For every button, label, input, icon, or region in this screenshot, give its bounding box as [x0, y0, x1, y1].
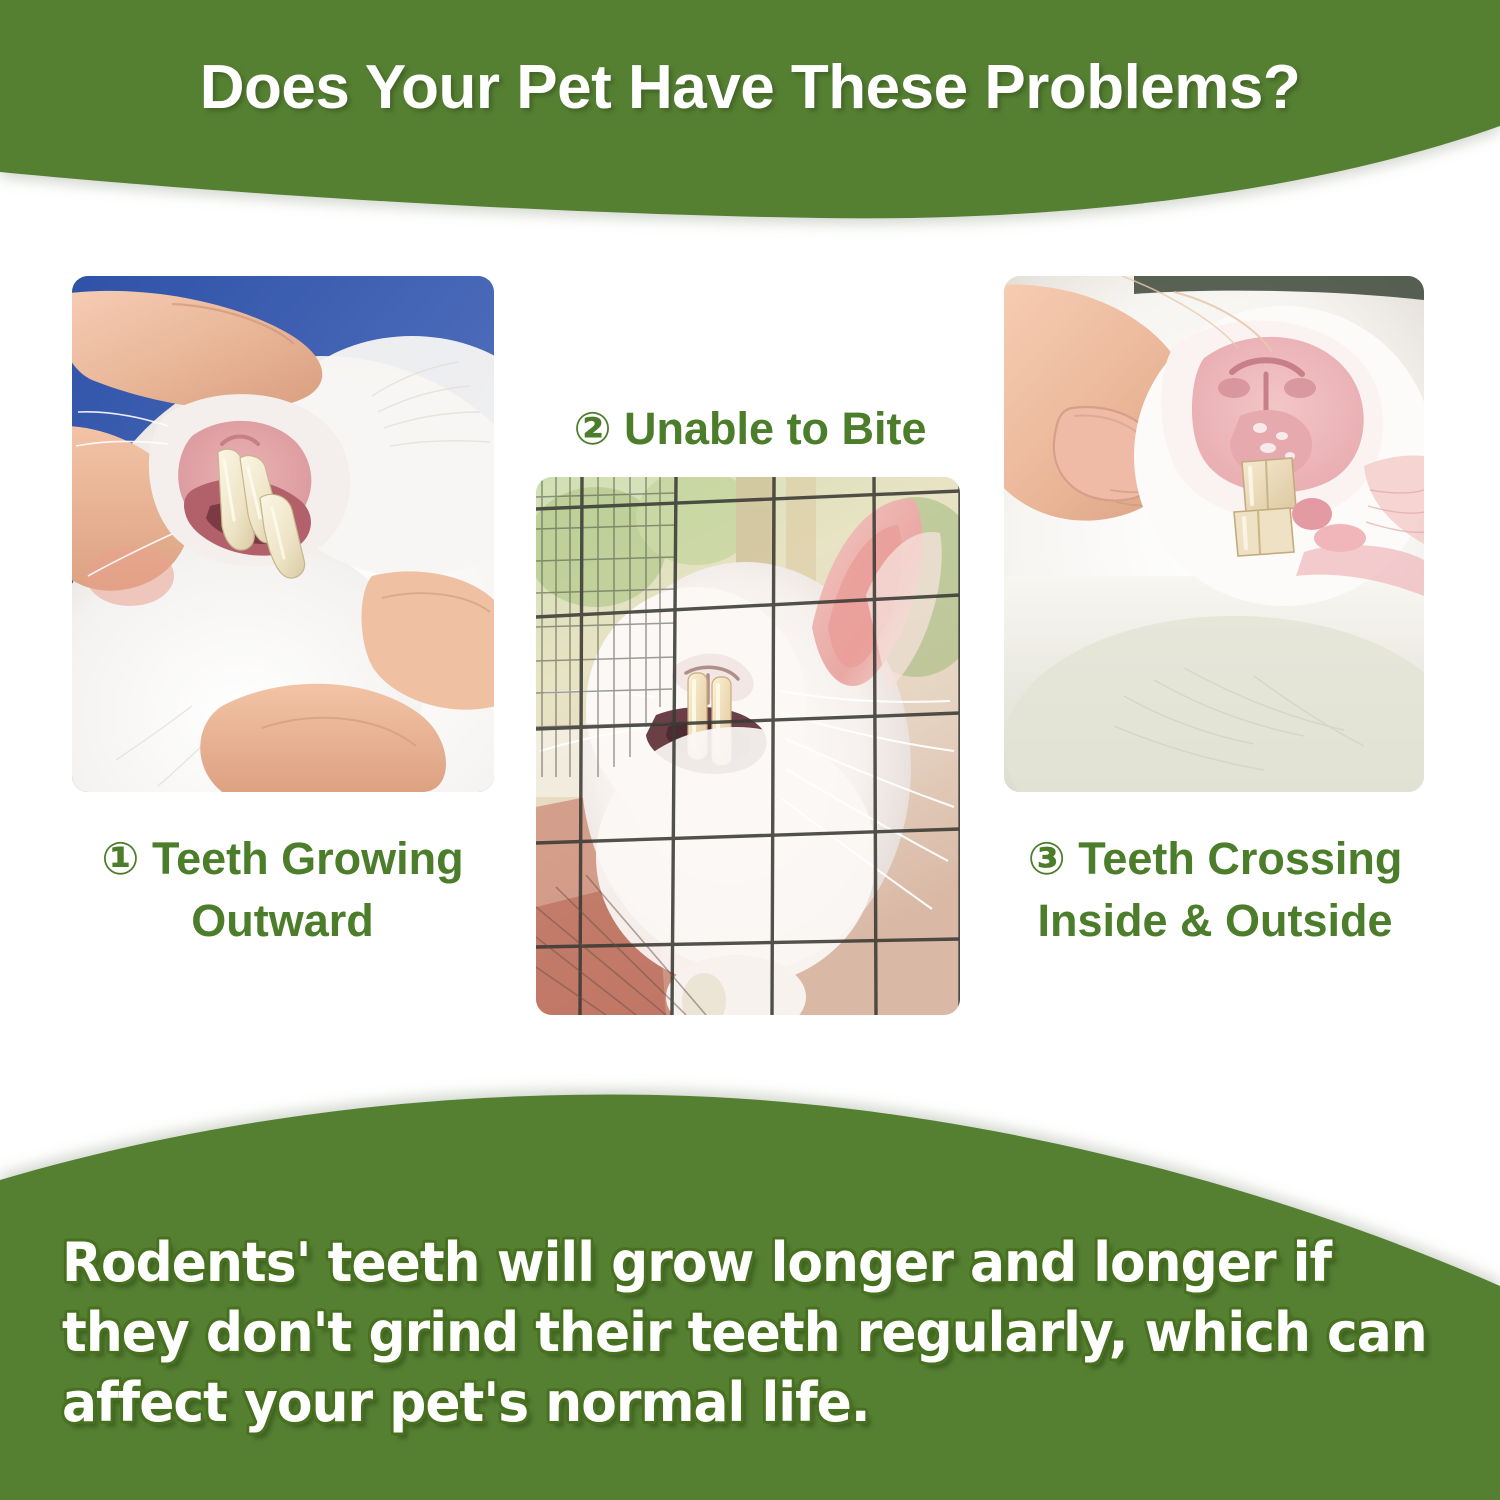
footer-line-2: they don't grind their teeth regularly, …: [62, 1298, 1348, 1368]
rabbit-in-cage-illustration: [536, 477, 960, 1015]
caption-1-line-1: ① Teeth Growing: [101, 833, 463, 884]
problem-photo-1: [72, 276, 494, 792]
infographic-canvas: Does Your Pet Have These Problems?: [0, 0, 1500, 1500]
footer-message: Rodents' teeth will grow longer and long…: [62, 1228, 1348, 1439]
caption-1-line-2: Outward: [191, 895, 374, 946]
problem-photo-2: [536, 477, 960, 1015]
problem-photo-3: [1004, 276, 1424, 792]
rabbit-teeth-outward-illustration: [72, 276, 494, 792]
caption-problem-3: ③ Teeth Crossing Inside & Outside: [990, 828, 1440, 952]
footer-line-3: affect your pet's normal life.: [62, 1368, 1348, 1438]
footer-line-1: Rodents' teeth will grow longer and long…: [62, 1228, 1348, 1298]
caption-2-line-1: ② Unable to Bite: [573, 403, 926, 454]
page-title: Does Your Pet Have These Problems?: [0, 52, 1500, 123]
caption-problem-2: ② Unable to Bite: [520, 398, 980, 460]
caption-3-line-1: ③ Teeth Crossing: [1028, 833, 1403, 884]
caption-3-line-2: Inside & Outside: [1037, 895, 1392, 946]
rabbit-crossed-teeth-illustration: [1004, 276, 1424, 792]
caption-problem-1: ① Teeth Growing Outward: [55, 828, 510, 952]
